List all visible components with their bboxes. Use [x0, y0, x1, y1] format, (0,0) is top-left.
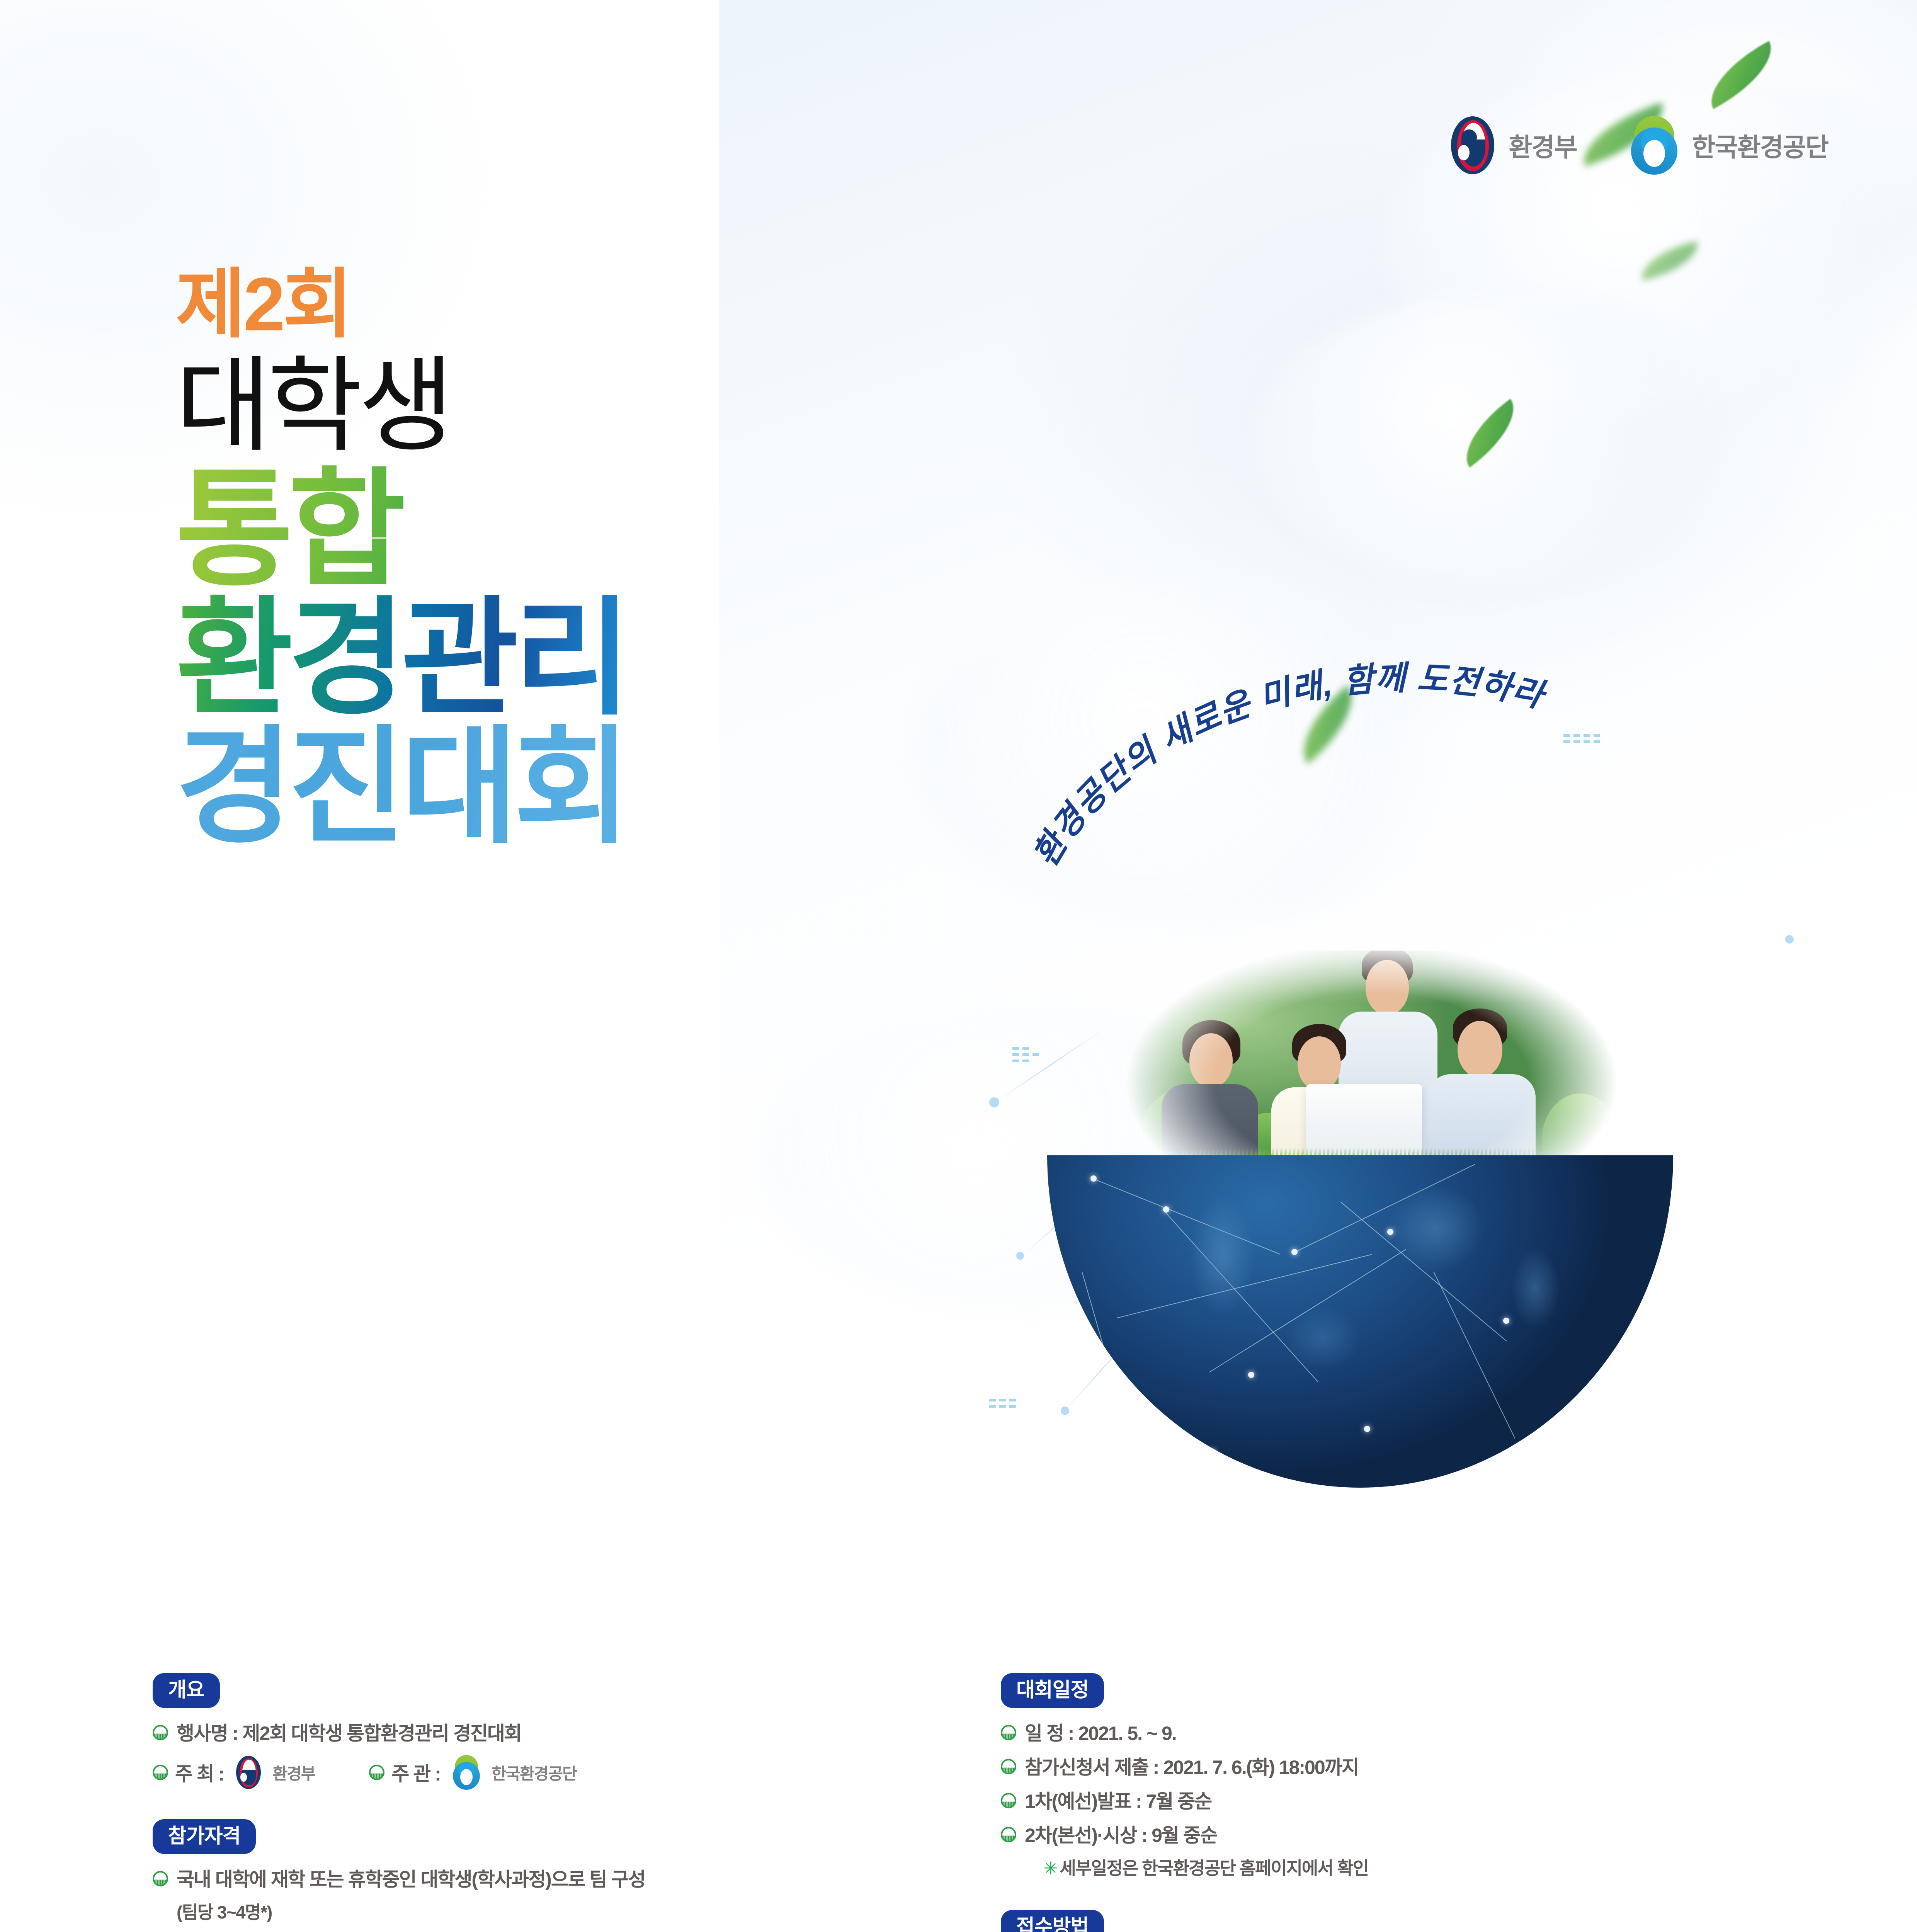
bullet-circle-icon	[369, 1765, 384, 1780]
overview-organizer-label: 주 관 :	[391, 1759, 440, 1786]
section-application: 접수방법 참가신청은 한국환경공단 홈페이지(www.keco.or.kr)에서…	[1001, 1910, 1851, 1932]
asterisk-icon: ✳	[1043, 1858, 1058, 1878]
schedule-item-3: 2차(본선)·시상 : 9월 중순	[1025, 1822, 1217, 1849]
eligibility-line1-row: 국내 대학에 재학 또는 휴학중인 대학생(학사과정)으로 팀 구성	[153, 1866, 964, 1893]
overview-host-name: 환경부	[272, 1761, 315, 1784]
schedule-item-row: 1차(예선)발표 : 7월 중순	[1001, 1788, 1851, 1815]
bullet-circle-icon	[1001, 1725, 1016, 1740]
badge-overview: 개요	[153, 1673, 220, 1708]
badge-schedule: 대회일정	[1001, 1673, 1104, 1708]
overview-organizer-name: 한국환경공단	[492, 1761, 577, 1784]
bullet-circle-icon	[1001, 1793, 1016, 1808]
keco-logo-label: 한국환경공단	[1692, 127, 1828, 164]
cloud-shape	[1252, 294, 1755, 587]
ministry-of-environment-logo: 환경부	[1451, 116, 1577, 174]
overview-event-name: 행사명 : 제2회 대학생 통합환경관리 경진대회	[177, 1720, 521, 1747]
title-audience: 대학생	[176, 353, 626, 459]
bullet-circle-icon	[153, 1765, 168, 1780]
header-logos: 환경부 한국환경공단	[1451, 116, 1829, 175]
schedule-note-row: ✳세부일정은 한국환경공단 홈페이지에서 확인	[1043, 1856, 1851, 1881]
section-overview: 개요 행사명 : 제2회 대학생 통합환경관리 경진대회 주 최 :	[153, 1673, 964, 1790]
badge-application: 접수방법	[1001, 1910, 1104, 1932]
schedule-item-1: 참가신청서 제출 : 2021. 7. 6.(화) 18:00까지	[1025, 1754, 1359, 1781]
left-column: 개요 행사명 : 제2회 대학생 통합환경관리 경진대회 주 최 :	[153, 1673, 964, 1932]
overview-host: 주 최 : 환경부	[153, 1756, 315, 1789]
bullet-circle-icon	[1001, 1759, 1016, 1774]
right-column: 대회일정 일 정 : 2021. 5. ~ 9. 참가신청서 제출 : 2021…	[1001, 1673, 1851, 1932]
eligibility-line1: 국내 대학에 재학 또는 휴학중인 대학생(학사과정)으로 팀 구성	[177, 1866, 645, 1893]
title-word-tonghap: 통합	[176, 465, 626, 595]
section-schedule: 대회일정 일 정 : 2021. 5. ~ 9. 참가신청서 제출 : 2021…	[1001, 1673, 1851, 1881]
schedule-note: 세부일정은 한국환경공단 홈페이지에서 확인	[1060, 1858, 1368, 1878]
section-eligibility: 참가자격 국내 대학에 재학 또는 휴학중인 대학생(학사과정)으로 팀 구성 …	[153, 1819, 964, 1932]
keco-circle-mark-icon	[1631, 116, 1677, 175]
moe-taegeuk-mark-icon	[236, 1756, 261, 1789]
moe-taegeuk-mark-icon	[1451, 116, 1494, 174]
title-edition: 제2회	[176, 267, 626, 342]
bullet-circle-icon	[153, 1871, 168, 1886]
globe-graphic	[1047, 908, 1673, 1488]
overview-organizations-row: 주 최 : 환경부 주 관 :	[153, 1755, 964, 1790]
bullet-circle-icon	[153, 1725, 168, 1740]
title-word-gyeongjindaehoe: 경진대회	[176, 722, 626, 852]
overview-event-name-row: 행사명 : 제2회 대학생 통합환경관리 경진대회	[153, 1720, 964, 1747]
eligibility-note-row: ✳팀당 구성인원(3~4명)은 코로나19로 인한 사회적거리두기 고려	[195, 1930, 964, 1932]
poster-title-block: 제2회 대학생 통합 환경관리 경진대회	[176, 267, 626, 850]
badge-eligibility: 참가자격	[153, 1819, 256, 1854]
overview-host-label: 주 최 :	[175, 1759, 224, 1786]
schedule-item-row: 일 정 : 2021. 5. ~ 9.	[1001, 1720, 1851, 1747]
eligibility-line2: (팀당 3~4명*)	[177, 1900, 964, 1925]
moe-logo-label: 환경부	[1509, 127, 1577, 164]
schedule-item-row: 2차(본선)·시상 : 9월 중순	[1001, 1822, 1851, 1849]
title-word-hwangyeonggwanri: 환경관리	[176, 594, 626, 724]
schedule-item-0: 일 정 : 2021. 5. ~ 9.	[1025, 1720, 1176, 1747]
keco-logo: 한국환경공단	[1631, 116, 1828, 175]
keco-circle-mark-icon	[453, 1755, 480, 1790]
people-photo-band	[1124, 951, 1619, 1190]
arc-slogan: 환경공단의 새로운 미래, 함께 도전하라	[1012, 603, 1808, 951]
bullet-circle-icon	[1001, 1827, 1016, 1842]
globe-hemisphere	[1047, 1155, 1673, 1488]
schedule-item-2: 1차(예선)발표 : 7월 중순	[1025, 1788, 1211, 1815]
schedule-item-row: 참가신청서 제출 : 2021. 7. 6.(화) 18:00까지	[1001, 1754, 1851, 1781]
overview-organizer: 주 관 : 한국환경공단	[369, 1755, 576, 1790]
content-area: 개요 행사명 : 제2회 대학생 통합환경관리 경진대회 주 최 :	[0, 1673, 1917, 1932]
arc-slogan-text: 환경공단의 새로운 미래, 함께 도전하라	[1027, 660, 1551, 872]
